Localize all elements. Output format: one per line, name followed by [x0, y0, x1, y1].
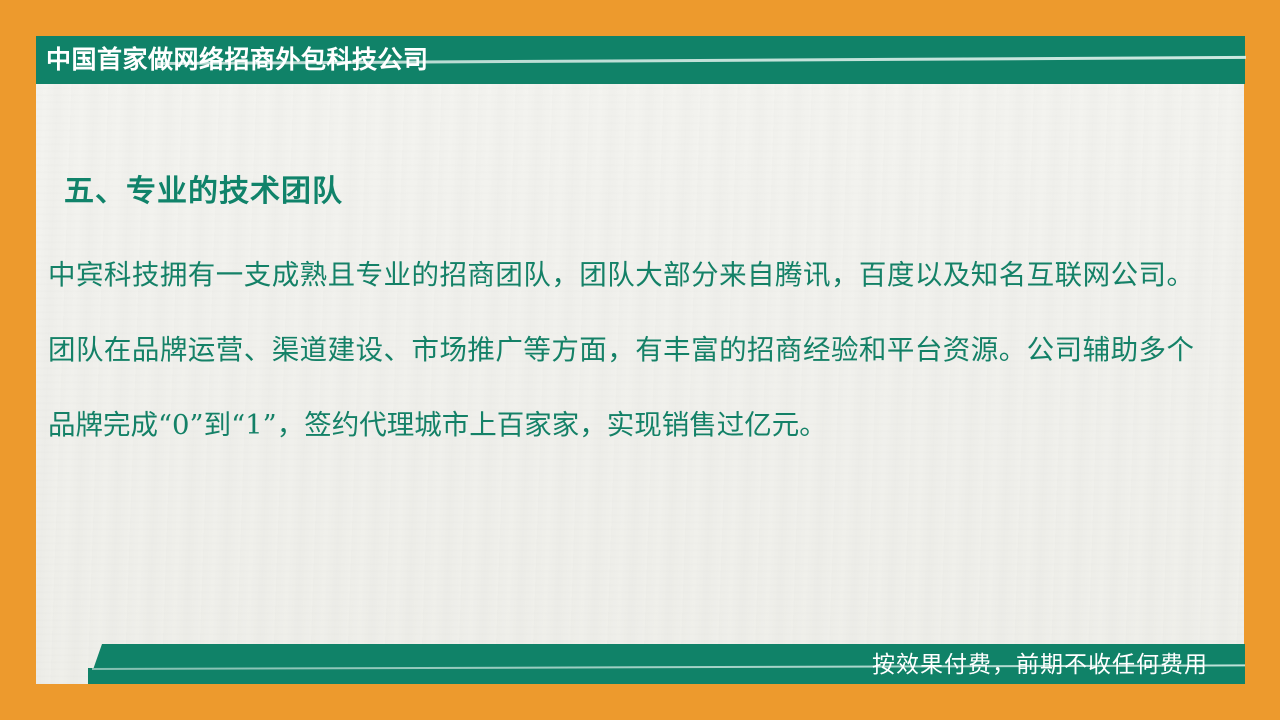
header-title: 中国首家做网络招商外包科技公司: [46, 38, 429, 82]
slide-content-area: 中国首家做网络招商外包科技公司 五、专业的技术团队 中宾科技拥有一支成熟且专业的…: [36, 36, 1244, 684]
body-paragraph: 中宾科技拥有一支成熟且专业的招商团队，团队大部分来自腾讯，百度以及知名互联网公司…: [48, 238, 1194, 463]
footer-tagline: 按效果付费，前期不收任何费用: [872, 644, 1208, 684]
slide-root: 中国首家做网络招商外包科技公司 五、专业的技术团队 中宾科技拥有一支成熟且专业的…: [0, 0, 1280, 720]
section-heading: 五、专业的技术团队: [64, 166, 343, 210]
